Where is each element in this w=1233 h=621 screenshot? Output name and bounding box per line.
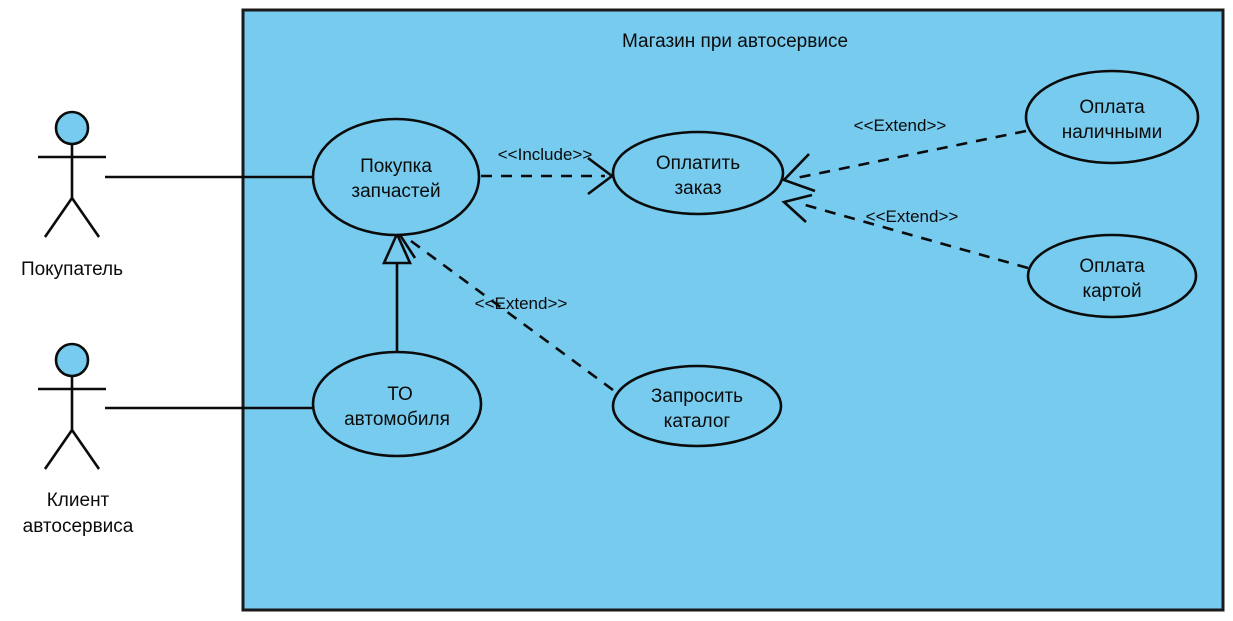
use-case-car-maintenance[interactable]: ТО автомобиля xyxy=(313,352,481,456)
actor-service-client-head-icon xyxy=(56,344,88,376)
use-case-request-catalog[interactable]: Запросить каталог xyxy=(613,366,781,446)
use-case-pay-order[interactable]: Оплатить заказ xyxy=(613,132,783,214)
use-case-request-catalog-label-line1: Запросить xyxy=(651,386,743,407)
use-case-pay-order-label-line1: Оплатить xyxy=(656,153,740,174)
extend-cash-stereotype-label: <<Extend>> xyxy=(854,116,947,135)
include-stereotype-label: <<Include>> xyxy=(498,145,593,164)
use-case-buy-parts-label-line2: запчастей xyxy=(351,181,440,202)
use-case-buy-parts[interactable]: Покупка запчастей xyxy=(313,119,479,235)
actor-buyer-label: Покупатель xyxy=(21,259,123,280)
use-case-pay-order-label-line2: заказ xyxy=(674,178,721,199)
use-case-car-maintenance-label-line2: автомобиля xyxy=(344,409,450,430)
actor-buyer-head-icon xyxy=(56,112,88,144)
extend-card-stereotype-label: <<Extend>> xyxy=(866,207,959,226)
actor-service-client-right-leg-icon xyxy=(72,430,99,469)
actor-service-client-label-line1: Клиент xyxy=(47,490,110,511)
use-case-pay-card-label-line2: картой xyxy=(1082,281,1141,302)
actor-service-client-left-leg-icon xyxy=(45,430,72,469)
extend-catalog-stereotype-label: <<Extend>> xyxy=(475,294,568,313)
diagram-canvas: Магазин при автосервисе <<Include>> <<Ex… xyxy=(0,0,1233,621)
use-case-request-catalog-label-line2: каталог xyxy=(664,411,731,432)
use-case-pay-card[interactable]: Оплата картой xyxy=(1028,235,1196,317)
actor-buyer[interactable]: Покупатель xyxy=(21,112,123,280)
use-case-pay-cash[interactable]: Оплата наличными xyxy=(1026,71,1198,163)
use-case-car-maintenance-label-line1: ТО xyxy=(387,384,413,405)
actor-service-client[interactable]: Клиент автосервиса xyxy=(23,344,134,537)
actor-service-client-label-line2: автосервиса xyxy=(23,516,134,537)
actor-buyer-right-leg-icon xyxy=(72,198,99,237)
use-case-pay-cash-label-line1: Оплата xyxy=(1079,97,1145,118)
use-case-buy-parts-ellipse[interactable] xyxy=(313,119,479,235)
use-case-diagram: Магазин при автосервисе <<Include>> <<Ex… xyxy=(0,0,1233,621)
use-case-buy-parts-label-line1: Покупка xyxy=(360,156,432,177)
system-boundary-title: Магазин при автосервисе xyxy=(622,31,848,52)
use-case-pay-card-label-line1: Оплата xyxy=(1079,256,1145,277)
actor-buyer-left-leg-icon xyxy=(45,198,72,237)
use-case-pay-cash-label-line2: наличными xyxy=(1062,122,1162,143)
